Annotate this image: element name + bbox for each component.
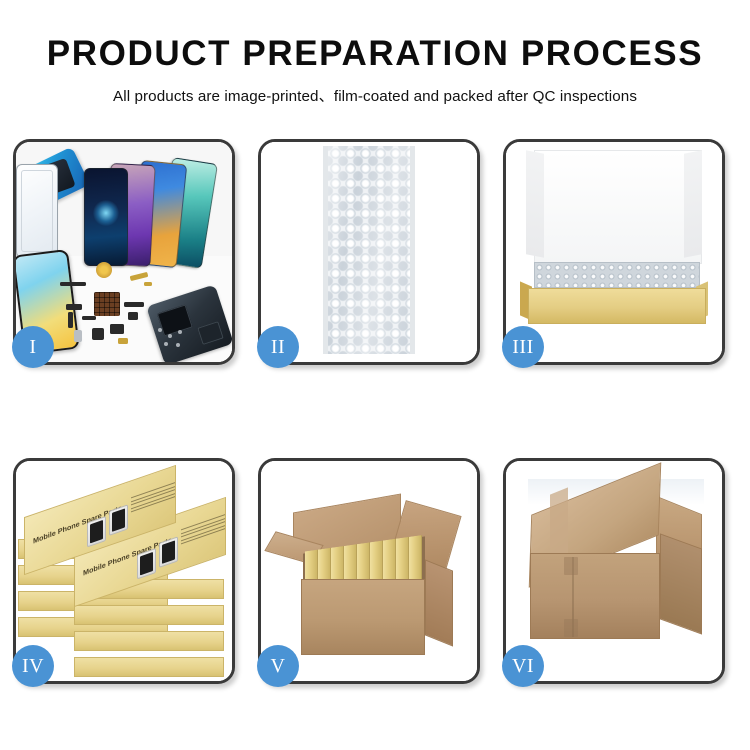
step-image-1 — [16, 142, 232, 362]
carton-front-icon — [301, 579, 425, 655]
box-spec-lines — [181, 514, 225, 551]
bubble-wrapped-contents-icon — [534, 262, 700, 288]
box-lid-right-icon — [684, 150, 702, 257]
chip-grid-icon — [94, 292, 120, 316]
step-panel-6: VI — [503, 458, 725, 684]
page-header: PRODUCT PREPARATION PROCESS All products… — [0, 0, 750, 106]
taptic-engine-icon — [92, 328, 104, 340]
process-steps-grid: I II III — [13, 139, 737, 684]
step-image-2 — [261, 142, 477, 362]
page-subtitle: All products are image-printed、film-coat… — [0, 84, 750, 106]
phone-dark-blue-icon — [84, 168, 128, 266]
carton-tab-icon — [564, 557, 578, 575]
step-image-3 — [506, 142, 722, 362]
retail-box-edge — [74, 631, 224, 651]
step-badge-4: IV — [12, 645, 54, 687]
page-title: PRODUCT PREPARATION PROCESS — [0, 36, 750, 71]
camera-module-icon — [128, 312, 138, 320]
retail-box-edge — [74, 605, 224, 625]
step-image-5 — [261, 461, 477, 681]
step-badge-5: V — [257, 645, 299, 687]
infographic-page: PRODUCT PREPARATION PROCESS All products… — [0, 0, 750, 750]
step-panel-1: I — [13, 139, 235, 365]
speaker-coil-icon — [96, 262, 112, 278]
carton-right-side-icon — [425, 559, 453, 646]
step-badge-2: II — [257, 326, 299, 368]
step-badge-1: I — [12, 326, 54, 368]
antenna-flex-icon — [124, 302, 144, 307]
box-phone-image-icon — [137, 548, 156, 580]
carton-side-icon — [660, 533, 702, 634]
phone-lineup — [68, 154, 218, 266]
spare-parts-group — [58, 260, 186, 352]
connector-block-icon — [66, 304, 82, 310]
inner-box-front-icon — [528, 288, 706, 324]
screws-group — [158, 328, 184, 348]
step-badge-3: III — [502, 326, 544, 368]
gold-connector-icon — [130, 272, 149, 281]
flex-strip-icon — [68, 312, 73, 328]
step-panel-2: II — [258, 139, 480, 365]
retail-box-stack: Mobile Phone Spare Parts Mobile Phone Sp… — [18, 475, 232, 677]
carton-front-icon — [530, 553, 660, 639]
step-panel-5: V — [258, 458, 480, 684]
box-lid-left-icon — [526, 150, 544, 257]
box-lid-back-icon — [534, 150, 702, 264]
step-image-6 — [506, 461, 722, 681]
bubble-wrap-icon — [323, 146, 415, 354]
flex-cable-icon — [60, 282, 86, 286]
box-phone-image-icon — [159, 536, 178, 568]
step-badge-6: VI — [502, 645, 544, 687]
carton-tab-icon — [564, 619, 578, 637]
sim-tray-icon — [74, 330, 82, 342]
step-image-4: Mobile Phone Spare Parts Mobile Phone Sp… — [16, 461, 232, 681]
battery-connector-icon — [118, 338, 128, 344]
step-panel-4: Mobile Phone Spare Parts Mobile Phone Sp… — [13, 458, 235, 684]
box-spec-lines — [131, 482, 175, 519]
step-panel-3: III — [503, 139, 725, 365]
box-phone-image-icon — [109, 504, 128, 536]
tempered-glass-icon — [16, 164, 58, 258]
box-phone-image-icon — [87, 516, 106, 548]
retail-box-edge — [74, 657, 224, 677]
gold-contact-icon — [144, 282, 152, 286]
ribbon-cable-icon — [82, 316, 96, 320]
speaker-module-icon — [110, 324, 124, 334]
